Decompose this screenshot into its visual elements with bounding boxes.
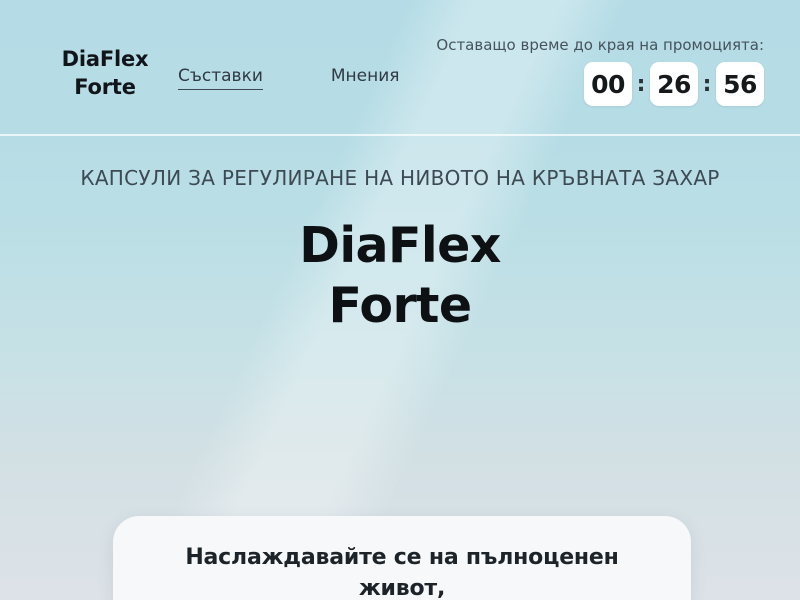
hero-kicker: КАПСУЛИ ЗА РЕГУЛИРАНЕ НА НИВОТО НА КРЪВН… [0, 166, 800, 190]
page-title-line1: DiaFlex [0, 216, 800, 276]
hero-section: КАПСУЛИ ЗА РЕГУЛИРАНЕ НА НИВОТО НА КРЪВН… [0, 166, 800, 336]
brand-logo-line2: Forte [40, 74, 170, 102]
nav-item-ingredients[interactable]: Съставки [178, 66, 263, 90]
countdown-separator-2: : [702, 72, 712, 97]
benefits-card-title-line1: Наслаждавайте се на пълноценен живот, [143, 542, 661, 600]
page-title: DiaFlex Forte [0, 216, 800, 336]
countdown-label: Оставащо време до края на промоцията: [436, 36, 764, 54]
brand-logo[interactable]: DiaFlex Forte [40, 46, 170, 101]
main-navigation: Съставки Мнения [178, 66, 400, 90]
benefits-card-title: Наслаждавайте се на пълноценен живот, до… [143, 542, 661, 600]
benefits-card: Наслаждавайте се на пълноценен живот, до… [113, 516, 691, 600]
countdown-seconds: 56 [716, 62, 764, 106]
promo-countdown: Оставащо време до края на промоцията: 00… [436, 36, 764, 106]
page-title-line2: Forte [0, 276, 800, 336]
countdown-hours: 00 [584, 62, 632, 106]
countdown-digits: 00 : 26 : 56 [436, 62, 764, 106]
brand-logo-line1: DiaFlex [40, 46, 170, 74]
countdown-minutes: 26 [650, 62, 698, 106]
countdown-separator-1: : [636, 72, 646, 97]
nav-item-reviews[interactable]: Мнения [331, 66, 400, 90]
site-header: DiaFlex Forte Съставки Мнения Оставащо в… [0, 0, 800, 136]
